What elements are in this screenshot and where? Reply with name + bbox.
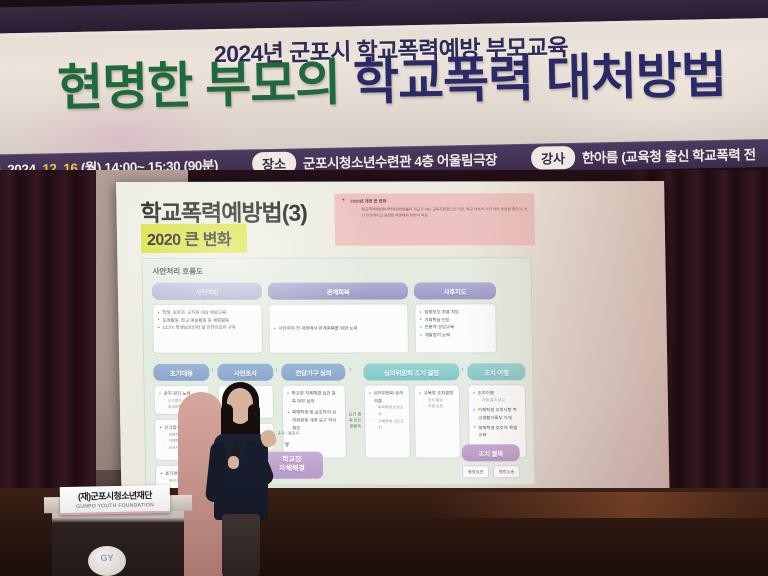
flow-header-investigation: 사안조사 [217,364,273,381]
event-speaker: 한아름 (교육청 출신 학교폭력 전 [582,143,756,166]
podium-sign: (재)군포시청소년재단 GUNPO YOUTH FOUNDATION [60,485,171,515]
flow-col-relationship: 관계회복 사안처리 전 과정에서 관계회복을 위한 노력 [268,282,409,353]
slide-title: 학교폭력예방법(3) [140,194,307,228]
list-item: 전문적 상담교육 [421,324,491,332]
list-subitem: 이행 요청 [420,404,454,411]
flow-header-relationship: 관계회복 [268,282,408,299]
list-item: 조치이행 [474,389,520,397]
flow-card-aftercare: 집중보호 치료 지도 기회학습 인도 전문적 상담교육 재발방지 노력 [414,303,497,353]
flow-appeal-group: 조치 불복 행정심판 행정소송 [462,444,521,478]
speaker-label-badge: 강사 [531,145,575,169]
flowchart-title: 사안처리 흐름도 [152,265,523,277]
appeal-option-administrative-trial: 행정심판 [462,465,489,478]
flow-card-superintendent: 교육장 조치결정 조치 통보 이행 요청 [414,384,461,458]
podium-sign-english: GUNPO YOUTH FOUNDATION [76,502,154,510]
slide-subtitle-highlight: 2020 큰 변화 [141,224,248,253]
flow-col-aftercare: 사후지도 집중보호 치료 지도 기회학습 인도 전문적 상담교육 재발방지 노력 [414,282,497,353]
flow-header-committee-review: 전담기구 심의 [281,364,345,381]
speaker-presenter [206,382,276,576]
flow-card-deliberation: 심의위원회 심의 의결 피해학생 보호조치 가해학생 선도조치 [364,384,411,458]
flow-col-prevention: 사전예방 학생, 보호자, 교직원 대상 예방교육 또래활동, 학교 예술활동 … [152,283,263,354]
flowchart-row-one: 사전예방 학생, 보호자, 교직원 대상 예방교육 또래활동, 학교 예술활동 … [150,282,525,357]
flow-col-decision: 심의위원회 조치 결정 심의위원회 심의 의결 피해학생 보호조치 가해학생 선… [363,363,461,458]
list-item: 학교장 자체해결 요건 충족 여부 심의 [288,390,340,405]
arrow-right-icon: › [211,367,213,374]
list-item: CCTV 학생보호인력 및 안전인프라 구축 [158,324,256,332]
list-item: 가해학생 조치사항 학교생활기록부 기재 [474,407,520,422]
arrow-right-icon: › [349,367,351,374]
list-subitem: 피해학생 보호조치 [370,405,404,418]
list-item: 또래활동, 학교 예술활동 등 체험활동 [158,316,256,324]
banner-title-green: 현명한 부모의 [57,55,341,117]
list-item: 심의위원회 심의 의결 [370,389,404,404]
flow-branch-label: 요건 충족 또는 불충족 [348,412,362,430]
speaker-trousers [222,514,260,576]
self-solve-tiny-label: 충족 / 불충족 [277,431,299,437]
slide-note-box: 2020년 개정 큰 변화 학교폭력예방및대책에관한법률이 학교가 아닌 교육지… [334,193,535,245]
flow-header-execution: 조치 이행 [467,363,525,380]
list-item: 학생, 보호자, 교직원 대상 예방교육 [158,309,256,317]
list-item: 사안처리 전 과정에서 관계회복을 위한 노력 [275,325,358,333]
appeal-option-administrative-suit: 행정소송 [493,465,520,478]
podium-emblem: GY [88,546,126,576]
list-item: 피해학생 및 보호자의 심의위원회 개최 요구 의사 확인 [288,409,340,432]
podium-sign-korean: (재)군포시청소년재단 [78,488,152,503]
flow-card-relationship: 사안처리 전 과정에서 관계회복을 위한 노력 [268,303,409,353]
flow-decision-cards: 심의위원회 심의 의결 피해학생 보호조치 가해학생 선도조치 교육장 조치결정… [364,384,461,458]
flow-header-initial-response: 초기대응 [153,364,209,381]
list-item: 피해학생 보호자 특별교육 [474,424,520,439]
slide-subtitle: 2020 큰 변화 [147,232,231,249]
event-place: 군포시청소년수련관 4층 어울림극장 [303,148,497,172]
flow-appeal-options: 행정심판 행정소송 [462,465,520,478]
flow-header-prevention: 사전예방 [152,283,262,300]
flow-header-decision: 심의위원회 조치 결정 [363,363,459,380]
list-subitem: 이행 결과 보고 [474,397,520,404]
slide-note-heading: 2020년 개정 큰 변화 [350,198,527,204]
podium-emblem-mark: GY [96,551,118,565]
flow-card-prevention: 학생, 보호자, 교직원 대상 예방교육 또래활동, 학교 예술활동 등 체험활… [152,304,263,354]
flow-header-appeal: 조치 불복 [462,444,520,461]
arrow-right-icon: › [461,366,463,373]
list-subitem: 가해학생 선도조치 [370,418,404,431]
list-item: 기회학습 인도 [420,316,490,324]
event-banner: 2024년 군포시 학교폭력예방 부모교육 현명한 부모의 학교폭력 대처방법 … [0,0,768,184]
list-item: 교육장 조치결정 [420,389,454,397]
arrow-right-icon: › [275,367,277,374]
list-item: 집중보호 치료 지도 [420,308,490,316]
slide-note-body: 학교폭력예방및대책에관한법률이 학교가 아닌 교육지원청으로 이관, 학교 내부… [361,207,527,219]
speaker-hand-left [228,456,239,469]
photo-scene: 2024년 군포시 학교폭력예방 부모교육 현명한 부모의 학교폭력 대처방법 … [0,0,768,576]
list-item: 재발방지 노력 [421,331,491,339]
stage-floor-reflection [430,492,768,518]
banner-title-navy: 학교폭력 대처방법 [352,47,726,110]
flow-header-aftercare: 사후지도 [414,282,496,299]
arrow-down-icon: ▼ [283,440,292,450]
